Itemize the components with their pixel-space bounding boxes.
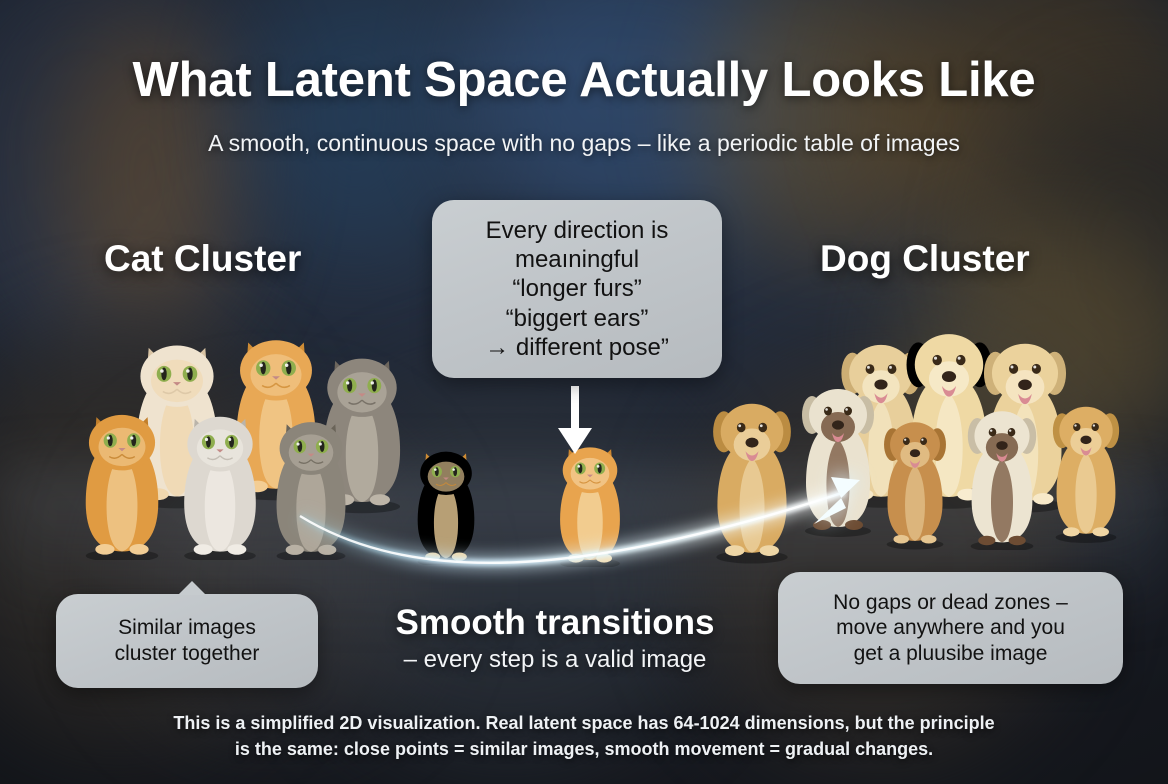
callout-line: get a pluusibe image — [833, 641, 1068, 667]
page-subtitle: A smooth, continuous space with no gaps … — [0, 130, 1168, 157]
callout-line: “biggert ears” — [485, 304, 669, 333]
cat-cluster-label: Cat Cluster — [104, 238, 301, 280]
page-title: What Latent Space Actually Looks Like — [0, 52, 1168, 108]
callout-similar-images: Similar imagescluster together — [56, 594, 318, 688]
smooth-transitions-subtitle: – every step is a valid image — [330, 646, 780, 674]
infographic-canvas: What Latent Space Actually Looks Like A … — [0, 0, 1168, 784]
callout-line: cluster together — [115, 641, 260, 667]
callout-line: → different pose” — [485, 333, 669, 362]
callout-center-text: Every direction ismeaıningful“longer fur… — [471, 216, 683, 362]
callout-line: Every direction is — [485, 216, 669, 245]
footer-caption-line-1: This is a simplified 2D visualization. R… — [70, 710, 1098, 736]
callout-every-direction: Every direction ismeaıningful“longer fur… — [432, 200, 722, 378]
dog-cluster-label: Dog Cluster — [820, 238, 1030, 280]
callout-line: move anywhere and you — [833, 615, 1068, 641]
callout-line: meaıningful — [485, 245, 669, 274]
down-arrow-icon — [548, 386, 604, 458]
callout-right-text: No gaps or dead zones –move anywhere and… — [819, 590, 1082, 667]
callout-left-text: Similar imagescluster together — [101, 615, 274, 666]
footer-caption: This is a simplified 2D visualization. R… — [70, 710, 1098, 762]
callout-line: Similar images — [115, 615, 260, 641]
callout-line: No gaps or dead zones – — [833, 590, 1068, 616]
footer-caption-line-2: is the same: close points = similar imag… — [70, 736, 1098, 762]
callout-pointer — [178, 581, 206, 595]
smooth-transitions-block: Smooth transitions – every step is a val… — [330, 603, 780, 674]
smooth-transitions-title: Smooth transitions — [330, 603, 780, 643]
callout-no-gaps: No gaps or dead zones –move anywhere and… — [778, 572, 1123, 684]
callout-line: “longer furs” — [485, 274, 669, 303]
